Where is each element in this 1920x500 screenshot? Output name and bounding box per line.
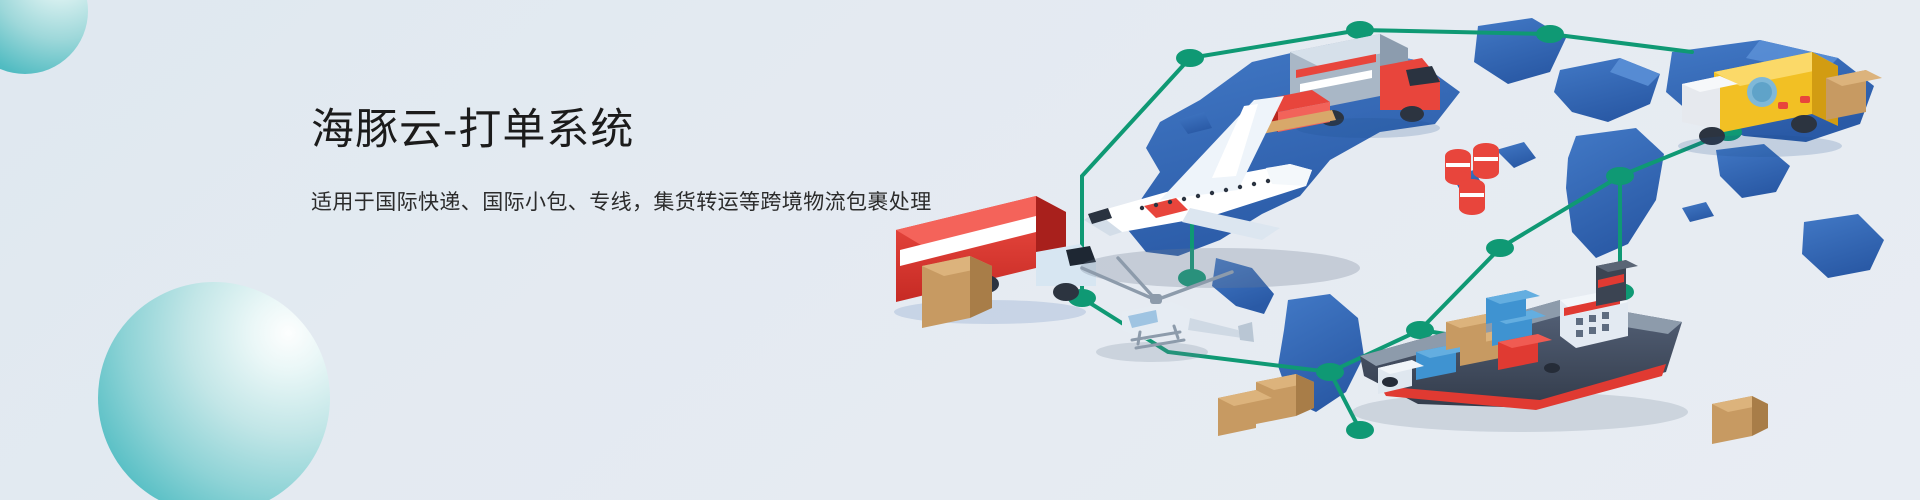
decorative-circle-top-left — [0, 0, 88, 74]
cardboard-boxes-right — [1712, 396, 1768, 444]
cardboard-boxes-bottom — [1218, 374, 1314, 436]
red-barrels — [1445, 143, 1499, 215]
page-subtitle: 适用于国际快递、国际小包、专线，集货转运等跨境物流包裹处理 — [311, 187, 911, 219]
page-title: 海豚云-打单系统 — [311, 104, 911, 158]
hero-banner: 海豚云-打单系统 适用于国际快递、国际小包、专线，集货转运等跨境物流包裹处理 — [0, 0, 1920, 500]
decorative-circle-bottom-left — [98, 282, 330, 500]
banner-text-block: 海豚云-打单系统 适用于国际快递、国际小包、专线，集货转运等跨境物流包裹处理 — [311, 104, 911, 218]
cargo-ship — [1352, 260, 1688, 432]
van-cargo-boxes — [1826, 70, 1882, 120]
global-logistics-illustration — [860, 0, 1920, 500]
